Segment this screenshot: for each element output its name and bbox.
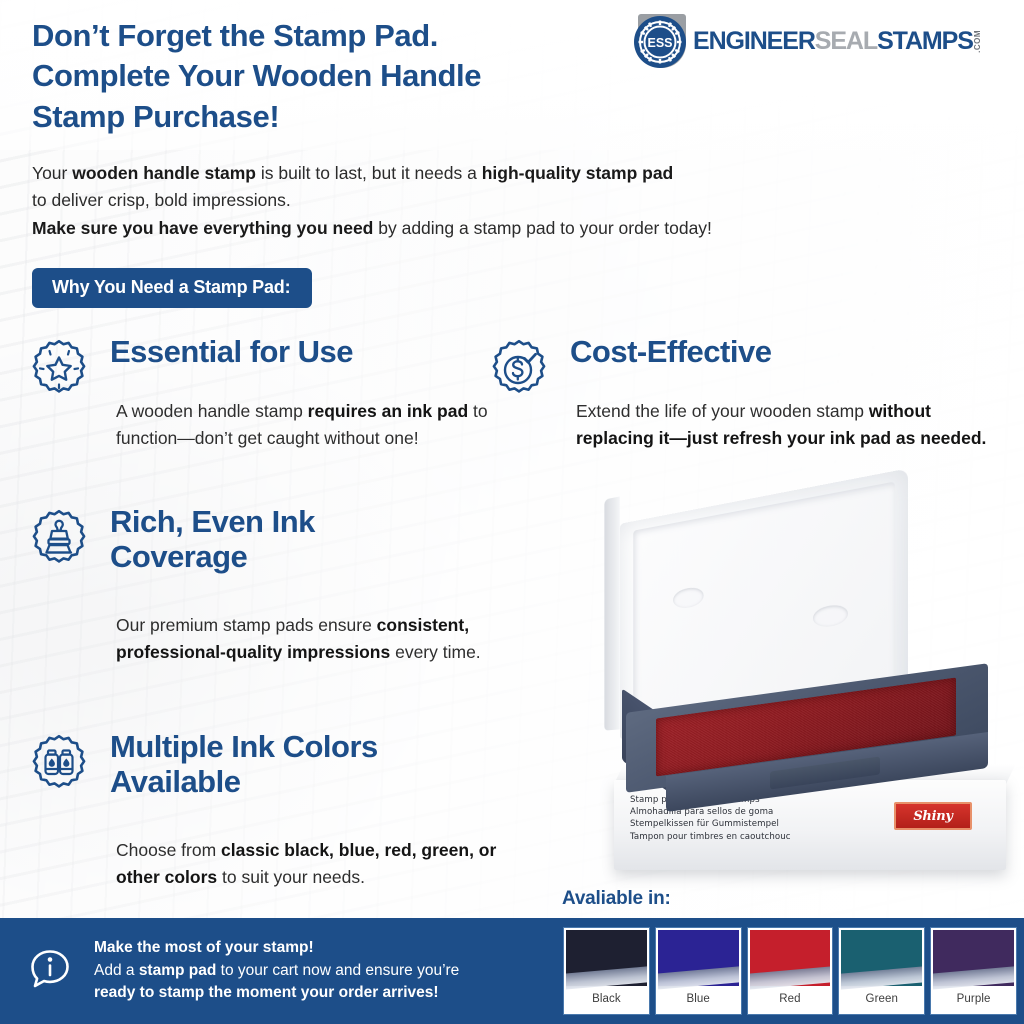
- ess-seal-icon: ESS: [632, 14, 690, 68]
- footer-line-3: ready to stamp the moment your order arr…: [94, 984, 439, 1001]
- intro-strong-makesure: Make sure you have everything you need: [32, 218, 373, 238]
- feature-body: A wooden handle stamp requires an ink pa…: [116, 398, 516, 451]
- box-line-fr: Tampon pour timbres en caoutchouc: [630, 831, 791, 843]
- feature-title: Essential for Use: [110, 334, 353, 369]
- feature-title: Multiple Ink Colors Available: [110, 729, 378, 800]
- feature-text: A wooden handle stamp: [116, 401, 308, 421]
- swatch-purple[interactable]: Purple: [931, 928, 1016, 1014]
- swatch-green[interactable]: Green: [839, 928, 924, 1014]
- swatch-color-black: [566, 930, 647, 986]
- swatch-color-red: [750, 930, 831, 986]
- badge-ink-bottles-icon: [28, 733, 90, 795]
- footer-line-1: Make the most of your stamp!: [94, 939, 314, 956]
- feature-text: Our premium stamp pads ensure: [116, 615, 377, 635]
- intro-text: by adding a stamp pad to your order toda…: [373, 218, 712, 238]
- feature-title-line-1: Multiple Ink Colors: [110, 729, 378, 764]
- title-line-3: Stamp Purchase!: [32, 97, 652, 137]
- intro-text: is built to last, but it needs a: [256, 163, 482, 183]
- swatch-red[interactable]: Red: [748, 928, 833, 1014]
- badge-star-icon: [28, 338, 90, 400]
- infographic-page: Don’t Forget the Stamp Pad. Complete You…: [0, 0, 1024, 1024]
- swatch-color-green: [841, 930, 922, 986]
- feature-body: Our premium stamp pads ensure consistent…: [116, 612, 506, 665]
- intro-paragraph: Your wooden handle stamp is built to las…: [32, 160, 912, 242]
- feature-body: Extend the life of your wooden stamp wit…: [576, 398, 1006, 451]
- case-lid-edge: [604, 497, 619, 731]
- logo-word-seal: SEAL: [815, 29, 877, 54]
- color-swatch-panel: Black Blue Red Green Purple: [556, 918, 1024, 1024]
- page-title: Don’t Forget the Stamp Pad. Complete You…: [32, 16, 652, 137]
- logo-tld: .COM: [974, 30, 982, 53]
- footer-cta-banner: Make the most of your stamp! Add a stamp…: [0, 918, 556, 1024]
- footer-text-run: Add a: [94, 962, 139, 979]
- feature-title-line-1: Rich, Even Ink: [110, 504, 315, 539]
- feature-text: Choose from: [116, 840, 221, 860]
- feature-title-line-2: Coverage: [110, 539, 315, 574]
- footer-text-run: to your cart now and ensure you’re: [216, 962, 459, 979]
- badge-dollar-check-icon: [488, 338, 550, 400]
- title-line-1: Don’t Forget the Stamp Pad.: [32, 16, 652, 56]
- intro-line-2: to deliver crisp, bold impressions.: [32, 187, 912, 214]
- feature-text: Extend the life of your wooden stamp: [576, 401, 869, 421]
- feature-text: to suit your needs.: [217, 867, 365, 887]
- swatch-label: Blue: [658, 986, 739, 1012]
- feature-title-line-2: Available: [110, 764, 378, 799]
- swatch-label: Green: [841, 986, 922, 1012]
- box-line-de: Stempelkissen für Gummistempel: [630, 818, 791, 830]
- feature-title: Rich, Even Ink Coverage: [110, 504, 315, 575]
- available-in-label: Avaliable in:: [562, 888, 671, 910]
- box-line-es: Almohadilla para sellos de goma: [630, 806, 791, 818]
- swatch-color-purple: [933, 930, 1014, 986]
- footer-strong-stamp-pad: stamp pad: [139, 962, 217, 979]
- feature-title: Cost-Effective: [570, 334, 771, 369]
- feature-text: every time.: [390, 642, 480, 662]
- swatch-label: Red: [750, 986, 831, 1012]
- swatch-label: Black: [566, 986, 647, 1012]
- swatch-black[interactable]: Black: [564, 928, 649, 1014]
- info-bubble-icon: [26, 945, 74, 998]
- intro-strong-pad: high-quality stamp pad: [482, 163, 674, 183]
- shiny-brand-text: Shiny: [913, 809, 952, 824]
- intro-line-1: Your wooden handle stamp is built to las…: [32, 160, 912, 187]
- swatch-blue[interactable]: Blue: [656, 928, 741, 1014]
- footer-line-2: Add a stamp pad to your cart now and ens…: [94, 960, 459, 983]
- feature-body: Choose from classic black, blue, red, gr…: [116, 837, 541, 890]
- section-badge: Why You Need a Stamp Pad:: [32, 268, 312, 308]
- intro-strong-stamp: wooden handle stamp: [72, 163, 256, 183]
- shiny-brand-logo: Shiny: [894, 802, 972, 830]
- lid-dimple: [673, 586, 704, 610]
- intro-text: Your: [32, 163, 72, 183]
- badge-stamp-icon: [28, 508, 90, 570]
- svg-text:ESS: ESS: [647, 36, 672, 50]
- swatch-label: Purple: [933, 986, 1014, 1012]
- brand-logo[interactable]: ESS ENGINEER SEAL STAMPS .COM: [632, 14, 982, 68]
- product-image-stamp-pad: Stamp pad for rubber stamps Almohadilla …: [556, 492, 1024, 892]
- lid-dimple: [813, 603, 848, 628]
- swatch-color-blue: [658, 930, 739, 986]
- logo-word-stamps: STAMPS: [877, 29, 973, 54]
- intro-line-3: Make sure you have everything you need b…: [32, 215, 912, 242]
- feature-strong: requires an ink pad: [308, 401, 468, 421]
- logo-word-engineer: ENGINEER: [693, 29, 815, 54]
- footer-cta-text: Make the most of your stamp! Add a stamp…: [94, 937, 459, 1006]
- title-line-2: Complete Your Wooden Handle: [32, 56, 652, 96]
